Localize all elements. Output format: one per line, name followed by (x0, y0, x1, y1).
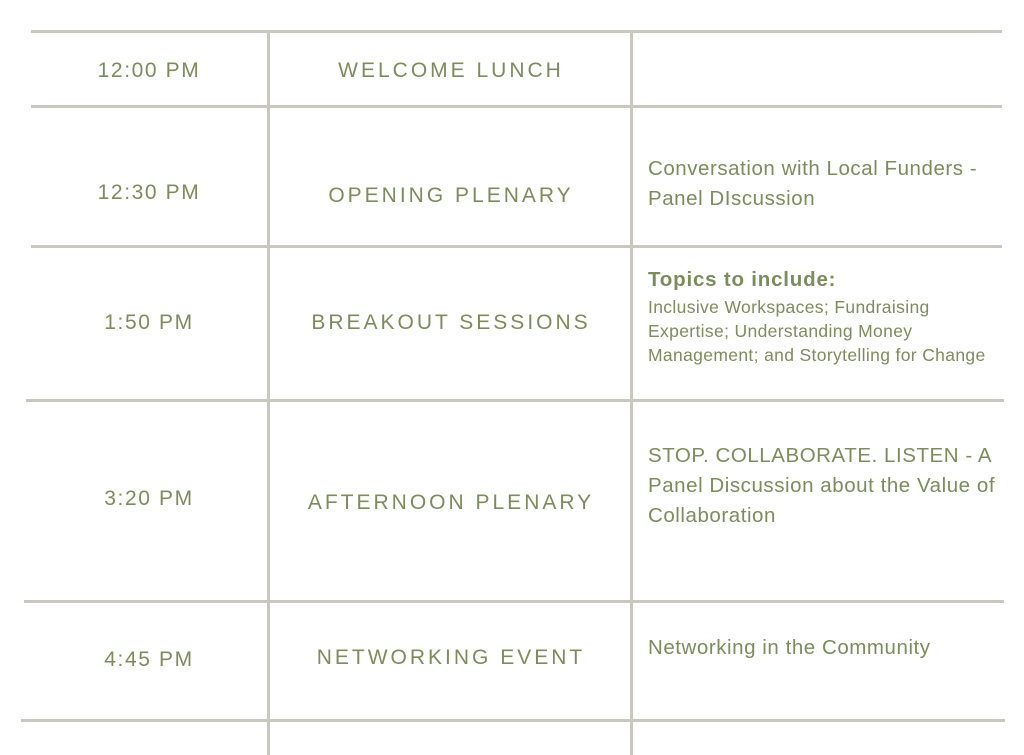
row-divider-3 (26, 399, 1004, 402)
table-row-details: STOP. COLLABORATE. LISTEN - A Panel Disc… (648, 441, 1013, 531)
table-row-details: Networking in the Community (648, 633, 1013, 663)
table-row-session: OPENING PLENARY (272, 184, 630, 208)
table-row-session: WELCOME LUNCH (272, 59, 630, 83)
table-row-details: Topics to include: Inclusive Workspaces;… (648, 265, 1013, 367)
details-heading: Topics to include: (648, 265, 1013, 295)
table-row-time: 1:50 PM (31, 311, 267, 335)
table-row-time: 4:45 PM (31, 648, 267, 672)
column-divider-1 (267, 30, 270, 755)
table-row-details: Conversation with Local Funders - Panel … (648, 154, 1013, 214)
column-divider-2 (630, 30, 633, 755)
row-divider-4 (24, 600, 1004, 603)
row-divider-2 (31, 245, 1002, 248)
details-sublist: Inclusive Workspaces; Fundraising Expert… (648, 295, 1013, 367)
table-row-time: 12:30 PM (31, 181, 267, 205)
row-divider-5 (21, 719, 1005, 722)
row-divider-1 (31, 105, 1002, 108)
table-row-session: BREAKOUT SESSIONS (272, 311, 630, 335)
table-row-session: AFTERNOON PLENARY (272, 491, 630, 515)
row-divider-top (31, 30, 1002, 33)
table-row-time: 12:00 PM (31, 59, 267, 83)
schedule-table: 12:00 PM WELCOME LUNCH 12:30 PM OPENING … (0, 0, 1024, 755)
table-row-time: 3:20 PM (31, 487, 267, 511)
table-row-session: NETWORKING EVENT (272, 646, 630, 670)
